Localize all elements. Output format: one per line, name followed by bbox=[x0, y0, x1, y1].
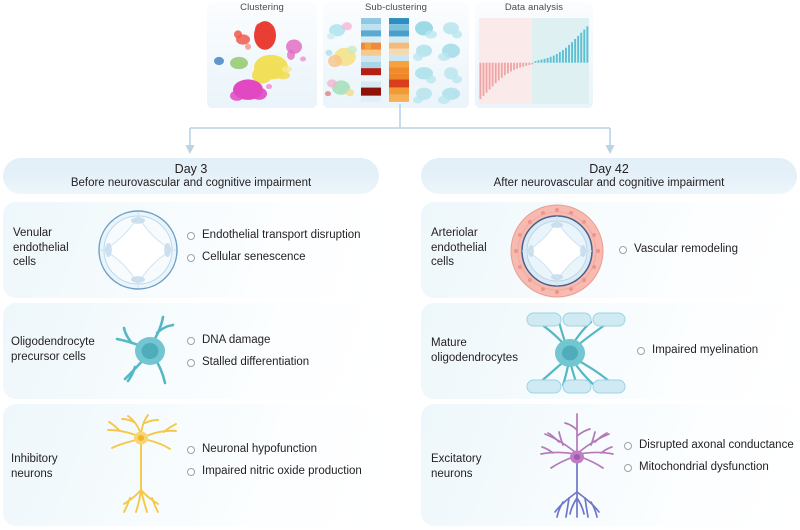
bullet-dot-icon bbox=[187, 254, 195, 262]
banner-day42-subtitle: After neurovascular and cognitive impair… bbox=[494, 176, 725, 191]
bullet-dot-icon bbox=[619, 246, 627, 254]
bullet-item: Disrupted axonal conductance bbox=[624, 438, 794, 453]
bullet-text: DNA damage bbox=[202, 333, 270, 348]
banner-day42-day: Day 42 bbox=[589, 162, 629, 176]
arteriole-cross-section-icon bbox=[509, 203, 605, 298]
bullet-item: DNA damage bbox=[187, 333, 371, 348]
bullet-list: Neuronal hypofunction Impaired nitric ox… bbox=[187, 442, 373, 478]
bullet-dot-icon bbox=[637, 347, 645, 355]
panel-data-analysis: Data analysis bbox=[475, 2, 593, 108]
mature-oligodendrocyte-icon bbox=[509, 307, 631, 399]
bullet-list: Endothelial transport disruption Cellula… bbox=[187, 228, 371, 264]
cell-type-label: Inhibitoryneurons bbox=[11, 452, 101, 481]
banner-day3: Day 3 Before neurovascular and cognitive… bbox=[3, 158, 379, 194]
row-mature-oligodendrocytes: Matureoligodendrocytes bbox=[421, 303, 797, 399]
umap-scatter-icon bbox=[207, 16, 317, 106]
bullet-text: Impaired nitric oxide production bbox=[202, 464, 362, 479]
banner-day3-subtitle: Before neurovascular and cognitive impai… bbox=[71, 176, 311, 191]
bullet-text: Mitochondrial dysfunction bbox=[639, 460, 769, 475]
bullet-dot-icon bbox=[187, 446, 195, 454]
panel-sub-clustering: Sub-clustering bbox=[323, 2, 469, 108]
panel-sub-clustering-title: Sub-clustering bbox=[323, 2, 469, 13]
venule-cross-section-icon bbox=[96, 208, 180, 292]
panel-data-analysis-title: Data analysis bbox=[475, 2, 593, 13]
row-arteriolar-endothelial-cells: Arteriolarendothelialcells bbox=[421, 202, 797, 298]
bullet-item: Neuronal hypofunction bbox=[187, 442, 373, 457]
graphical-abstract: Clustering bbox=[0, 0, 800, 530]
row-inhibitory-neurons: Inhibitoryneurons bbox=[3, 404, 379, 526]
bullet-dot-icon bbox=[624, 442, 632, 450]
bullet-dot-icon bbox=[187, 337, 195, 345]
bullet-list: Vascular remodeling bbox=[619, 242, 791, 257]
bullet-dot-icon bbox=[187, 468, 195, 476]
bullet-list: DNA damage Stalled differentiation bbox=[187, 333, 371, 369]
analysis-pipeline: Clustering bbox=[207, 2, 597, 108]
bullet-text: Stalled differentiation bbox=[202, 355, 309, 370]
bullet-dot-icon bbox=[187, 232, 195, 240]
heatmap-subcluster-icon bbox=[323, 16, 469, 106]
bullet-item: Mitochondrial dysfunction bbox=[624, 460, 794, 475]
inhibitory-neuron-icon bbox=[98, 412, 184, 518]
row-oligodendrocyte-precursor-cells: Oligodendrocyteprecursor cells DNA bbox=[3, 303, 379, 399]
banner-day42: Day 42 After neurovascular and cognitive… bbox=[421, 158, 797, 194]
row-venular-endothelial-cells: Venularendothelialcells Endot bbox=[3, 202, 379, 298]
bullet-item: Endothelial transport disruption bbox=[187, 228, 371, 243]
bullet-item: Impaired nitric oxide production bbox=[187, 464, 373, 479]
panel-clustering-title: Clustering bbox=[207, 2, 317, 13]
opc-cell-icon bbox=[105, 309, 189, 393]
bullet-text: Vascular remodeling bbox=[634, 242, 738, 257]
bullet-list: Impaired myelination bbox=[637, 343, 793, 358]
branch-arrow-icon bbox=[0, 104, 800, 156]
cell-type-label: Arteriolarendothelialcells bbox=[431, 226, 515, 270]
panel-clustering: Clustering bbox=[207, 2, 317, 108]
bullet-item: Stalled differentiation bbox=[187, 355, 371, 370]
ranked-bar-chart-icon bbox=[475, 16, 593, 106]
bullet-item: Impaired myelination bbox=[637, 343, 793, 358]
bullet-list: Disrupted axonal conductance Mitochondri… bbox=[624, 438, 794, 474]
excitatory-neuron-icon bbox=[529, 410, 625, 522]
bullet-text: Neuronal hypofunction bbox=[202, 442, 317, 457]
bullet-item: Cellular senescence bbox=[187, 250, 371, 265]
bullet-dot-icon bbox=[187, 359, 195, 367]
cell-type-label: Excitatoryneurons bbox=[431, 452, 521, 481]
bullet-item: Vascular remodeling bbox=[619, 242, 791, 257]
cell-type-label: Venularendothelialcells bbox=[13, 226, 95, 270]
bullet-text: Cellular senescence bbox=[202, 250, 306, 265]
bullet-text: Disrupted axonal conductance bbox=[639, 438, 794, 453]
bullet-text: Endothelial transport disruption bbox=[202, 228, 361, 243]
banner-day3-day: Day 3 bbox=[175, 162, 208, 176]
bullet-dot-icon bbox=[624, 464, 632, 472]
bullet-text: Impaired myelination bbox=[652, 343, 758, 358]
row-excitatory-neurons: Excitatoryneurons bbox=[421, 404, 797, 526]
